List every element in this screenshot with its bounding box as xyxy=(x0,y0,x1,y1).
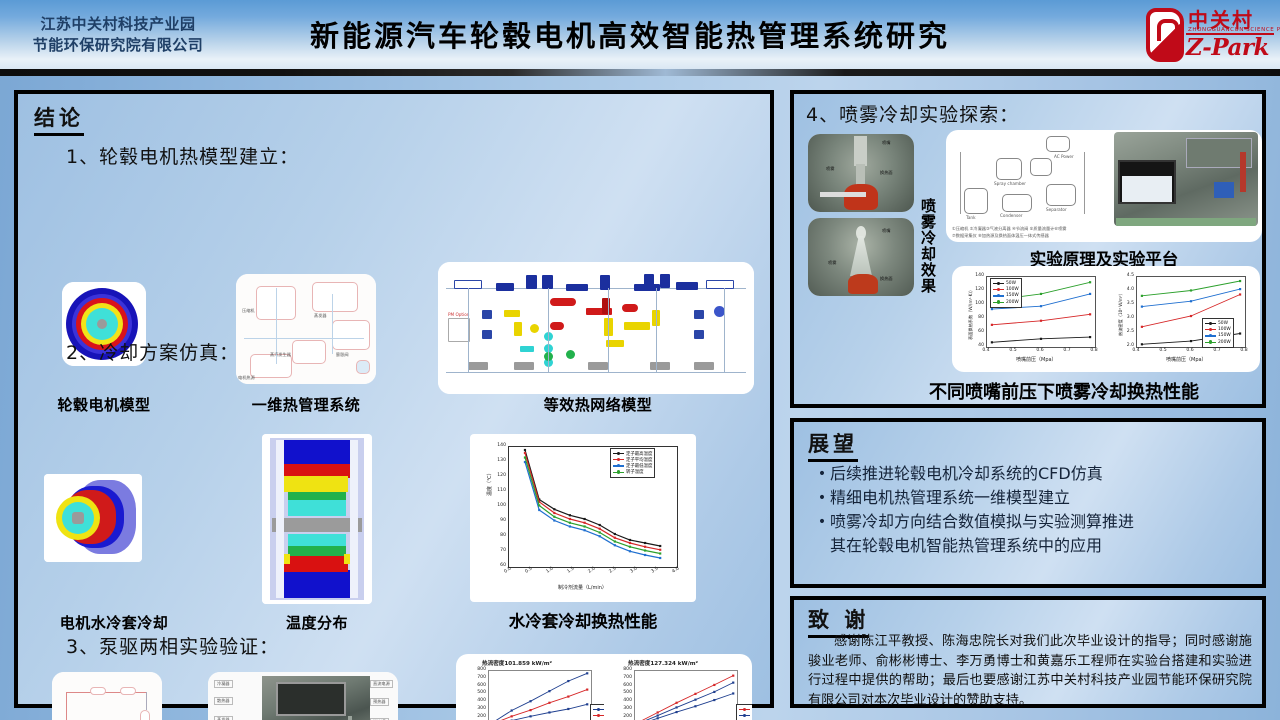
axis-tick: 80 xyxy=(970,315,984,320)
axis-tick: 700 xyxy=(618,675,632,680)
axis-tick: 200 xyxy=(472,714,486,719)
hf101-title: 热流密度101.859 kW/m² xyxy=(482,659,552,667)
legend-entry: 200W xyxy=(1205,339,1231,345)
axis-tick: 80 xyxy=(492,533,506,538)
axis-tick: 4.5 xyxy=(1120,273,1134,278)
logo-p-mark-icon xyxy=(1146,8,1184,62)
header-divider xyxy=(0,69,1280,76)
axis-tick: 2.5 xyxy=(1120,329,1134,334)
caption-water-jacket: 电机水冷套冷却 xyxy=(34,612,194,633)
outlook-panel: 展望 • 后续推进轮毂电机冷却系统的CFD仿真 • 精细电机热管理系统一维模型建… xyxy=(790,418,1266,588)
legend-label: 200W xyxy=(1218,340,1231,345)
legend-label: 定子平均温度 xyxy=(626,457,652,463)
axis-tick: 0.4 xyxy=(1130,348,1142,353)
chart-legend: 50W100W150W200W xyxy=(1202,318,1234,348)
legend-label: 50W xyxy=(1218,321,1228,326)
bullet-dot-icon: • xyxy=(814,510,830,534)
list-item: • 精细电机热管理系统一维模型建立 xyxy=(814,486,1254,510)
spray-flux-x-label: 喷嘴前压（Mpa） xyxy=(1166,356,1207,363)
list-item: • 喷雾冷却方向结合数值模拟与实验测算推进 xyxy=(814,510,1254,534)
heat-source-power-charts: 热流密度101.859 kW/m² 干度 0.050.10.150.20.250… xyxy=(456,654,752,720)
bullet-dot-icon: • xyxy=(814,486,830,510)
acknowledgement-panel: 致 谢 感谢陈江平教授、陈海忠院长对我们此次毕业设计的指导；同时感谢施骏业老师、… xyxy=(790,596,1266,708)
legend-swatch xyxy=(739,709,750,710)
axis-tick: 0.4 xyxy=(980,348,992,353)
conclusion-panel: 结论 1、轮毂电机热模型建立： 轮毂电机模型 压缩机 蒸发器 蒸汽发生器 xyxy=(14,90,774,708)
axis-tick: 0.5 xyxy=(1157,348,1169,353)
item1-heading: 1、轮毂电机热模型建立： xyxy=(66,142,299,169)
axis-tick: 0.8 xyxy=(1238,348,1250,353)
legend-swatch xyxy=(1205,329,1216,330)
logo-wordmark: Z-Park xyxy=(1186,34,1269,61)
legend-swatch xyxy=(613,472,624,473)
chart-legend: 定子最高温度定子平均温度定子最低温度转子温度 xyxy=(610,448,655,478)
axis-tick: 200 xyxy=(618,714,632,719)
legend-swatch xyxy=(739,715,750,716)
legend-swatch xyxy=(613,465,624,466)
legend-swatch xyxy=(613,459,624,460)
axis-tick: 0.8 xyxy=(1088,348,1100,353)
item3-heading: 3、泵驱两相实验验证： xyxy=(66,632,279,659)
axis-tick: 130 xyxy=(492,458,506,463)
spray-schematic-note-1: ①压缩机 ②冷凝器③气液分离器 ④节流阀 ⑤质量流量计⑥喷雾 xyxy=(952,226,1066,232)
axis-tick: 800 xyxy=(472,667,486,672)
equivalent-thermal-network-image: PM Option xyxy=(438,262,754,394)
list-item: 其在轮毂电机智能热管理系统中的应用 xyxy=(814,534,1254,558)
bullet-dot-icon: • xyxy=(814,462,830,486)
axis-tick: 600 xyxy=(618,683,632,688)
poster-header: 江苏中关村科技产业园 节能环保研究院有限公司 新能源汽车轮毂电机高效智能热管理系… xyxy=(0,0,1280,76)
zpark-logo: 中关村 ZHONGGUANCUN SCIENCE PARK Z-Park xyxy=(1140,2,1274,68)
legend-label: 150W xyxy=(1006,293,1019,298)
conclusion-title: 结论 xyxy=(34,102,84,136)
axis-tick: 4.0 xyxy=(1120,287,1134,292)
outlook-bullet-1: 后续推进轮毂电机冷却系统的CFD仿真 xyxy=(830,462,1103,486)
axis-tick: 0.7 xyxy=(1061,348,1073,353)
legend-swatch xyxy=(993,289,1004,290)
legend-label: 200W xyxy=(1006,300,1019,305)
legend-swatch xyxy=(1205,335,1216,336)
legend-label: 100W xyxy=(1218,327,1231,332)
legend-swatch xyxy=(1205,342,1216,343)
legend-swatch xyxy=(613,453,624,454)
axis-tick: 300 xyxy=(472,706,486,711)
caption-spray-performance: 不同喷嘴前压下喷雾冷却换热性能 xyxy=(864,378,1264,404)
axis-tick: 70 xyxy=(492,548,506,553)
axis-tick: 140 xyxy=(492,443,506,448)
caption-water-jacket-chart: 水冷套冷却换热性能 xyxy=(458,608,708,632)
water-jacket-performance-chart: 温度（℃） 制冷剂流量（L/min） 0.00.51.01.52.02.53.0… xyxy=(470,434,696,602)
axis-tick: 110 xyxy=(492,488,506,493)
one-dimensional-system-image: 压缩机 蒸发器 蒸汽发生器 膨胀阀 电机热源 xyxy=(236,274,376,384)
axis-tick: 300 xyxy=(618,706,632,711)
spray-performance-charts: 喷嘴前压（Mpa） 表面换热系数（W/(m²·K)） 0.40.50.60.70… xyxy=(952,266,1260,372)
legend-label: 定子最低温度 xyxy=(626,463,652,469)
temperature-distribution-image xyxy=(262,434,372,604)
axis-tick: 100 xyxy=(492,503,506,508)
axis-tick: 3.5 xyxy=(1120,301,1134,306)
axis-tick: 140 xyxy=(970,273,984,278)
legend-swatch xyxy=(1205,323,1216,324)
organization-name: 江苏中关村科技产业园 节能环保研究院有限公司 xyxy=(18,14,218,56)
axis-tick: 500 xyxy=(472,690,486,695)
axis-tick: 60 xyxy=(492,563,506,568)
outlook-bullet-3: 喷雾冷却方向结合数值模拟与实验测算推进 xyxy=(830,510,1134,534)
caption-one-dimensional-system: 一维热管理系统 xyxy=(226,394,386,415)
caption-hub-motor-model: 轮毂电机模型 xyxy=(34,394,174,415)
spray-schematic-note-2: ⑦数据采集仪 ⑧加热源及换热面体温压一体式传感器 xyxy=(952,233,1049,239)
axis-tick: 500 xyxy=(618,690,632,695)
spray-effect-vertical-caption: 喷雾冷却效果 xyxy=(918,198,939,308)
list-item: • 后续推进轮毂电机冷却系统的CFD仿真 xyxy=(814,462,1254,486)
spray-cooling-panel: 4、喷雾冷却实验探索： 喷嘴 喷雾 换热面 喷嘴 喷雾 换热面 喷雾冷却效果 xyxy=(790,90,1266,408)
axis-tick: 400 xyxy=(618,698,632,703)
outlook-bullet-2: 精细电机热管理系统一维模型建立 xyxy=(830,486,1070,510)
bullet-spacer xyxy=(814,534,830,558)
spray-htc-x-label: 喷嘴前压（Mpa） xyxy=(1016,356,1057,363)
outlook-bullet-list: • 后续推进轮毂电机冷却系统的CFD仿真 • 精细电机热管理系统一维模型建立 •… xyxy=(814,462,1254,558)
axis-tick: 600 xyxy=(472,683,486,688)
spray-photo-bottom: 喷嘴 喷雾 换热面 xyxy=(808,218,914,296)
acknowledgement-body: 感谢陈江平教授、陈海忠院长对我们此次毕业设计的指导；同时感谢施骏业老师、俞彬彬博… xyxy=(808,632,1252,710)
water-jacket-cooling-image xyxy=(44,474,142,562)
legend-label: 150W xyxy=(1218,333,1231,338)
spray-heading: 4、喷雾冷却实验探索： xyxy=(806,100,1019,127)
chart-legend: 52.572kg/h48.100kg/h37.167kg/h xyxy=(736,704,752,720)
axis-tick: 2.0 xyxy=(1120,343,1134,348)
legend-swatch xyxy=(593,709,604,710)
axis-tick: 90 xyxy=(492,518,506,523)
legend-label: 定子最高温度 xyxy=(626,451,652,457)
legend-swatch xyxy=(993,295,1004,296)
outlook-bullet-4: 其在轮毂电机智能热管理系统中的应用 xyxy=(830,534,1102,558)
wj-x-axis-label: 制冷剂流量（L/min） xyxy=(558,584,607,591)
caption-thermal-network: 等效热网络模型 xyxy=(478,394,718,415)
spray-principle-and-platform-image: Spray chamber Separator Condenser Tank A… xyxy=(946,130,1262,242)
legend-label: 50W xyxy=(1006,281,1016,286)
axis-tick: 0.6 xyxy=(1184,348,1196,353)
axis-tick: 800 xyxy=(618,667,632,672)
axis-tick: 40 xyxy=(970,343,984,348)
chart-legend: 50W100W150W200W xyxy=(990,278,1022,308)
legend-swatch xyxy=(993,302,1004,303)
axis-tick: 3.0 xyxy=(1120,315,1134,320)
axis-tick: 120 xyxy=(492,473,506,478)
legend-label: 100W xyxy=(1006,287,1019,292)
legend-entry: 200W xyxy=(993,299,1019,305)
two-phase-principle-image xyxy=(52,672,162,720)
item2-heading: 2、冷却方案仿真： xyxy=(66,338,239,365)
experimental-rig-image: 冷凝器 散热器 蒸发器 干燥过滤器 液位观察器 直流电源 预热器 储液罐 质量流… xyxy=(208,672,398,720)
legend-swatch xyxy=(993,283,1004,284)
legend-label: 转子温度 xyxy=(626,469,644,475)
hf127-title: 热流密度127.324 kW/m² xyxy=(628,659,698,667)
legend-swatch xyxy=(593,715,604,716)
legend-entry: 转子温度 xyxy=(613,469,652,475)
axis-tick: 120 xyxy=(970,287,984,292)
outlook-title: 展望 xyxy=(808,428,858,462)
axis-tick: 100 xyxy=(970,301,984,306)
axis-tick: 700 xyxy=(472,675,486,680)
axis-tick: 400 xyxy=(472,698,486,703)
axis-tick: 0.5 xyxy=(1007,348,1019,353)
caption-temperature-distribution: 温度分布 xyxy=(242,612,392,633)
axis-tick: 60 xyxy=(970,329,984,334)
spray-photo-top: 喷嘴 喷雾 换热面 xyxy=(808,134,914,212)
axis-tick: 0.6 xyxy=(1034,348,1046,353)
page-title: 新能源汽车轮毂电机高效智能热管理系统研究 xyxy=(230,14,1030,58)
axis-tick: 0.7 xyxy=(1211,348,1223,353)
